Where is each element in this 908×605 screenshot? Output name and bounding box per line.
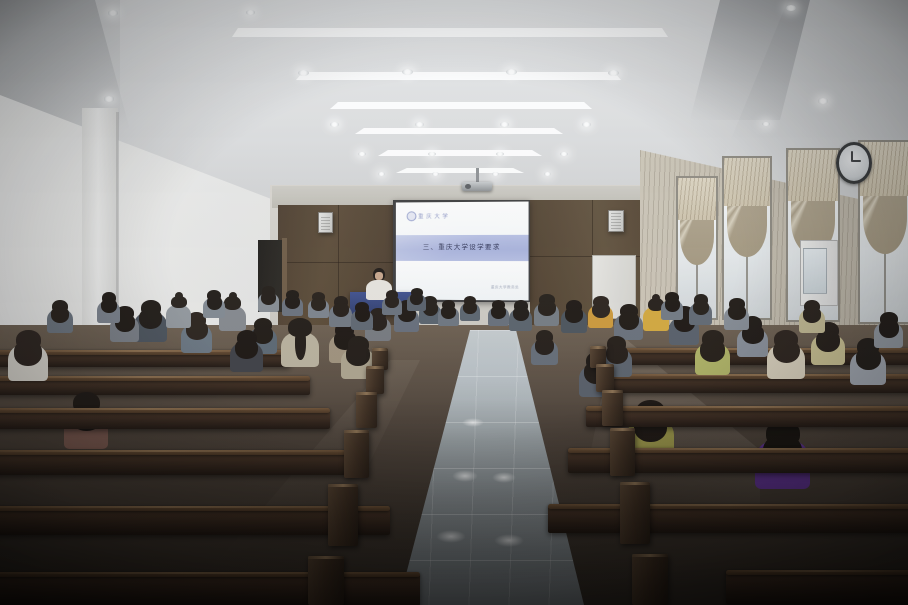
audience-member-hair [491, 306, 506, 319]
audience-member [407, 288, 426, 312]
audience-member-hair [665, 298, 680, 312]
ceiling-downlight [246, 10, 255, 15]
ceiling-downlight [330, 122, 339, 127]
ceiling-downlight [582, 122, 591, 127]
audience-member [258, 286, 279, 313]
ceiling-downlight [298, 70, 309, 76]
audience-member-hair [51, 307, 69, 323]
audience-member [329, 296, 352, 327]
audience-member-hair [355, 308, 370, 322]
ceiling-downlight [378, 172, 385, 176]
bench-end-cap [344, 430, 369, 478]
audience-member [561, 300, 587, 334]
audience-member-hair [693, 301, 709, 315]
audience-member-hair [311, 298, 326, 311]
audience-member [351, 302, 373, 331]
audience-member [438, 300, 459, 327]
bench-end-cap [308, 556, 344, 605]
audience-member-hair [879, 320, 899, 338]
audience-member-hair-bun [652, 294, 660, 302]
bench-highlight [586, 406, 908, 408]
wall-clock-icon [836, 142, 872, 184]
audience-member-hair-bun [229, 292, 237, 300]
bench-highlight [0, 450, 360, 452]
bench-end-cap [356, 392, 377, 428]
audience-member-hair [728, 305, 746, 320]
audience-member-hair [513, 307, 529, 321]
panel-seam [278, 262, 398, 263]
projection-screen: 重 庆 大 学 三、重庆大学设学要求 重庆大学教务处 [396, 201, 529, 300]
audience-member [695, 330, 730, 376]
ceiling-downlight [786, 5, 796, 11]
audience-member [230, 330, 263, 373]
audience-member-hair [101, 299, 117, 313]
ceiling-downlight [402, 69, 413, 75]
audience-member [308, 292, 329, 319]
panel-seam [592, 200, 593, 258]
bench-end-cap [632, 554, 668, 605]
audience-member [282, 290, 303, 317]
audience-member-hair [333, 303, 349, 317]
audience-member [488, 300, 509, 327]
audience-member [97, 292, 120, 323]
ceiling-downlight [506, 69, 517, 75]
ceiling-light-strip [232, 28, 668, 37]
bench-highlight [548, 504, 908, 506]
ceiling-downlight [492, 172, 499, 176]
audience-member-hair [538, 301, 556, 316]
audience-member-hair [285, 296, 300, 309]
bench-row [548, 506, 908, 533]
ceiling-downlight [608, 70, 619, 76]
bench-end-cap [366, 366, 384, 394]
audience-member-hair [385, 296, 399, 308]
audience-member [166, 296, 191, 328]
floor-light-reflection [492, 472, 516, 483]
floor-light-reflection [462, 418, 484, 427]
air-conditioner-panel [803, 248, 827, 294]
projection-screen-frame: 重 庆 大 学 三、重庆大学设学要求 重庆大学教务处 [393, 200, 530, 302]
bench-end-cap [610, 428, 635, 476]
audience-member-torso [166, 305, 191, 328]
audience-member-hair [565, 307, 583, 323]
audience-member-hair [346, 345, 370, 366]
ceiling-light-strip [396, 168, 524, 173]
ceiling-light-strip [378, 150, 542, 156]
ceiling-downlight [104, 96, 114, 102]
audience-member-hair [592, 303, 610, 318]
bench-end-cap [596, 364, 614, 392]
audience-member [767, 330, 805, 379]
floor-light-reflection [452, 470, 478, 482]
bench-end-cap [602, 390, 623, 426]
audience-member [661, 292, 683, 321]
bench-row [726, 572, 908, 604]
bench-row [0, 452, 360, 475]
audience-member-hair [619, 312, 639, 330]
floor-light-reflection [494, 534, 524, 547]
ceiling-light-strip [296, 72, 621, 80]
audience-member [382, 290, 402, 316]
window-curtain [788, 150, 838, 201]
audience-member [47, 300, 73, 334]
ceiling-downlight [415, 122, 424, 127]
audience-member-hair [295, 328, 306, 360]
bench-row [0, 574, 420, 605]
bench-highlight [726, 570, 908, 572]
audience-member-hair [261, 292, 276, 305]
audience-member [799, 300, 825, 334]
ceiling-downlight [818, 98, 828, 104]
ceiling-downlight [500, 122, 509, 127]
bench-row [586, 408, 908, 427]
audience-member-hair [207, 296, 222, 310]
audience-member-hair [463, 302, 477, 314]
bench-highlight [0, 572, 420, 574]
audience-member [588, 296, 613, 328]
audience-member-hair [816, 331, 840, 352]
audience-member-hair [235, 339, 258, 359]
audience-member [460, 296, 480, 322]
ceiling-downlight [108, 10, 118, 16]
audience-member-hair [441, 306, 456, 319]
audience-member-hair [773, 340, 800, 363]
bench-highlight [0, 408, 330, 410]
audience-member-hair [700, 340, 725, 362]
screen-glare [396, 201, 529, 300]
audience-member-hair [856, 348, 881, 370]
floor-light-reflection [436, 530, 466, 543]
audience-member-hair [535, 338, 554, 355]
audience-member-hair [606, 345, 628, 364]
ceiling-light-strip [330, 102, 592, 109]
audience-member [689, 294, 712, 325]
audience-member [203, 290, 225, 319]
audience-member [8, 330, 48, 383]
audience-member-hair-bun [175, 292, 183, 300]
lecture-hall-photograph: 重 庆 大 学 三、重庆大学设学要求 重庆大学教务处 [0, 0, 908, 605]
ceiling-downlight [544, 172, 551, 176]
audience-member-hair [803, 307, 821, 323]
audience-member-hair [139, 309, 162, 329]
audience-member [724, 298, 749, 330]
audience-member-hair [410, 293, 423, 305]
ceiling-downlight [432, 172, 439, 176]
audience-member-hair [14, 341, 42, 366]
audience-member [531, 330, 558, 366]
wall-speaker-right [608, 210, 624, 232]
window [722, 156, 772, 320]
wall-speaker-left [318, 212, 333, 233]
audience-member [534, 294, 559, 326]
projector-lens [465, 184, 471, 189]
bench-row [0, 410, 330, 429]
window-curtain [724, 158, 770, 206]
window-curtain [678, 178, 716, 220]
audience-member [281, 318, 319, 367]
audience-member [509, 300, 532, 331]
bench-end-cap [328, 484, 358, 546]
ceiling-light-strip [355, 128, 563, 134]
bench-end-cap [620, 482, 650, 544]
audience-member [874, 312, 903, 349]
